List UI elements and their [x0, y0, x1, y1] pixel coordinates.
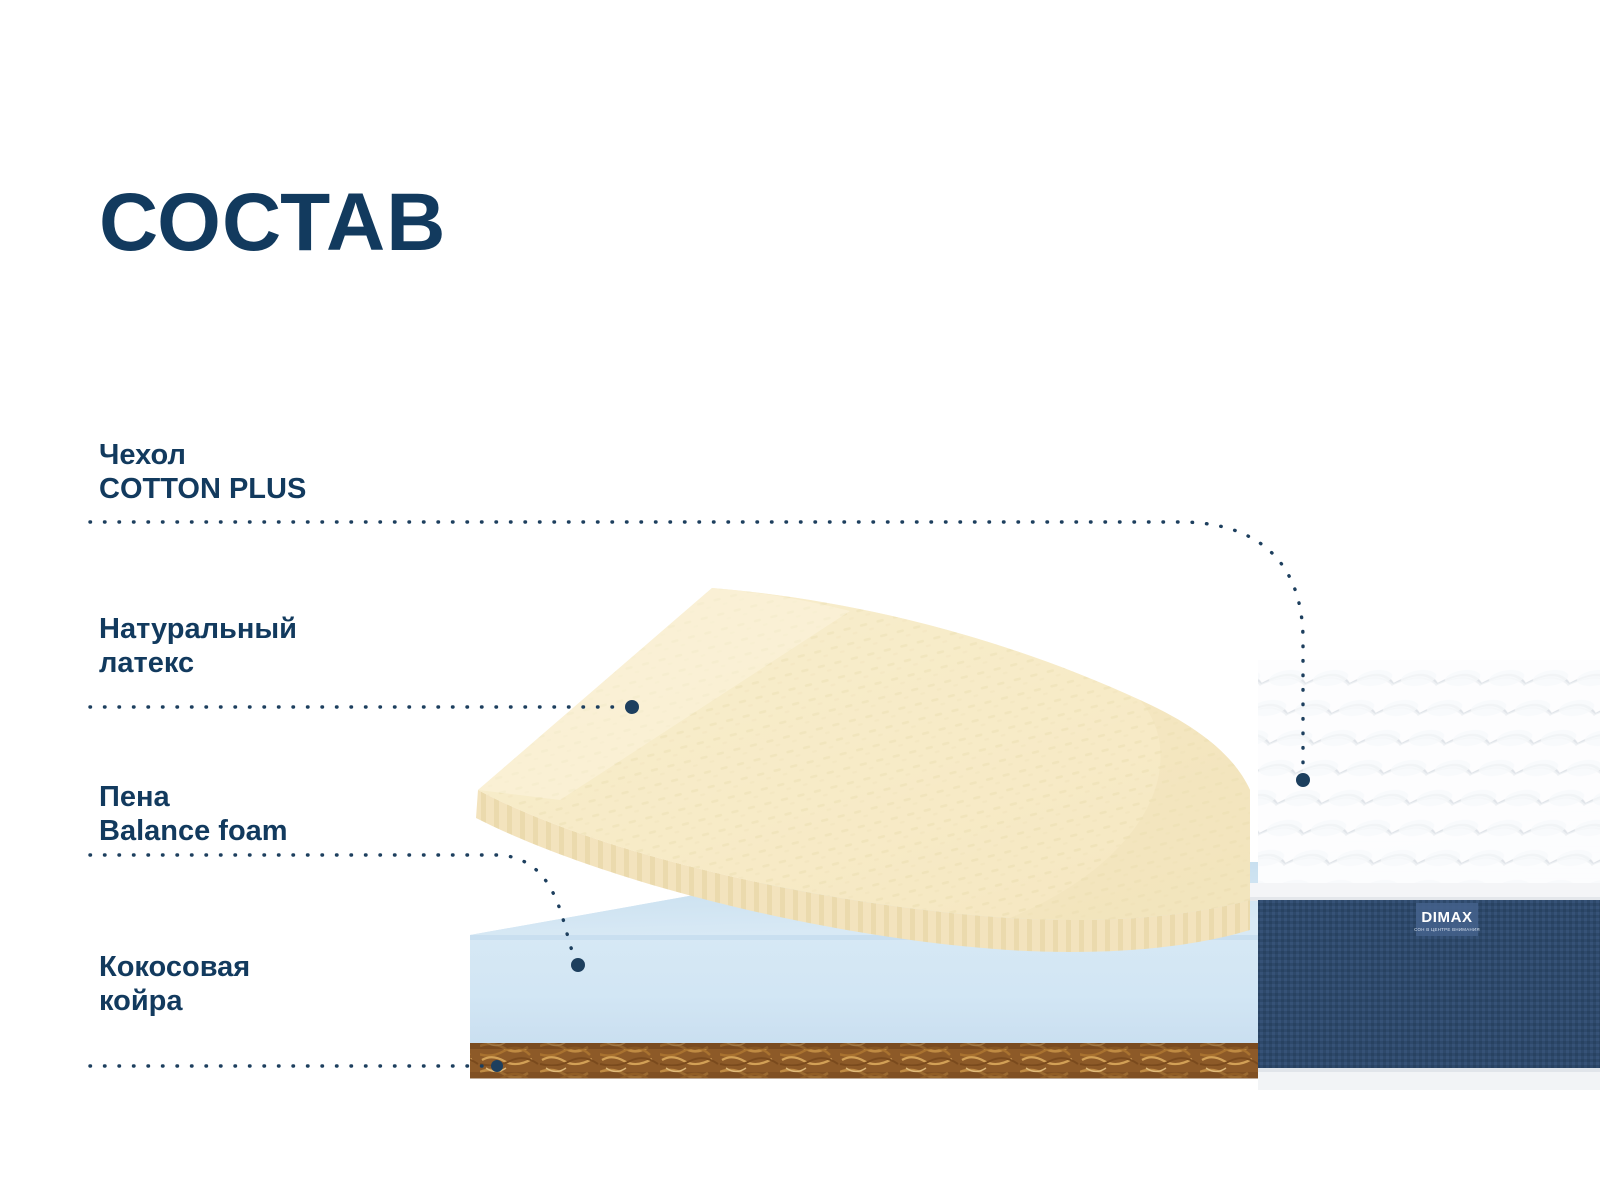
layer-coir	[470, 1042, 1258, 1079]
callout-latex-line2: латекс	[99, 646, 297, 680]
callout-foam: Пена Balance foam	[99, 780, 288, 848]
callout-coir-line2: койра	[99, 984, 250, 1018]
callout-foam-line1: Пена	[99, 780, 288, 814]
callout-cover-line1: Чехол	[99, 438, 306, 472]
layer-natural-latex	[476, 588, 1250, 952]
callout-cover: Чехол COTTON PLUS	[99, 438, 306, 506]
dimax-brand-label: DIMAX	[1421, 909, 1472, 926]
marker-foam	[571, 958, 585, 972]
callout-coir-line1: Кокосовая	[99, 950, 250, 984]
dimax-brand-tag: DIMAX СОН В ЦЕНТРЕ ВНИМАНИЯ	[1414, 903, 1480, 936]
page-title: СОСТАВ	[99, 182, 447, 264]
callout-latex-line1: Натуральный	[99, 612, 297, 646]
marker-cover	[1296, 773, 1310, 787]
callout-latex: Натуральный латекс	[99, 612, 297, 680]
marker-latex	[625, 700, 639, 714]
layer-side-panel: DIMAX СОН В ЦЕНТРЕ ВНИМАНИЯ	[1258, 900, 1600, 1090]
composition-infographic: DIMAX СОН В ЦЕНТРЕ ВНИМАНИЯ	[0, 0, 1600, 1200]
callout-coir: Кокосовая койра	[99, 950, 250, 1018]
marker-coir	[491, 1060, 503, 1072]
dimax-brand-tagline: СОН В ЦЕНТРЕ ВНИМАНИЯ	[1414, 927, 1480, 932]
callout-foam-line2: Balance foam	[99, 814, 288, 848]
callout-cover-line2: COTTON PLUS	[99, 472, 306, 506]
